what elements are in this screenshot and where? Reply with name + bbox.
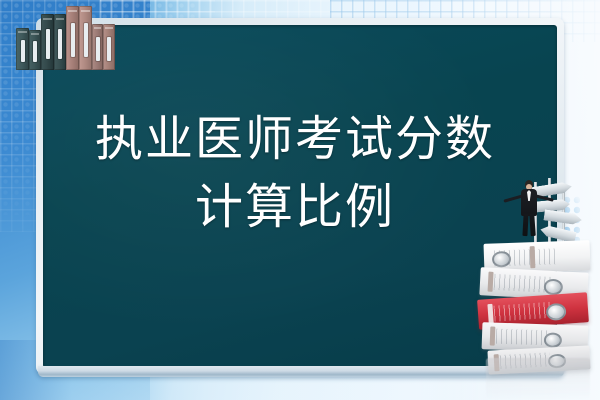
book-spine [92,24,103,70]
book-spine [103,24,115,70]
book-spine [16,28,29,70]
book-spine [54,14,66,70]
businessman-left-leg [522,214,528,236]
book-spine [41,14,54,70]
binder-stack-reflection [486,358,590,400]
ring-binder-stack [478,182,600,400]
poster-canvas: 执业医师考试分数 计算比例 执业医师考试分数计算比例 [0,0,600,400]
book-spine [79,6,92,70]
businessman-figure [506,180,552,242]
businessman-right-leg [529,214,536,236]
book-spine [29,30,41,70]
book-spine [66,6,79,70]
book-spine-row [16,0,110,70]
